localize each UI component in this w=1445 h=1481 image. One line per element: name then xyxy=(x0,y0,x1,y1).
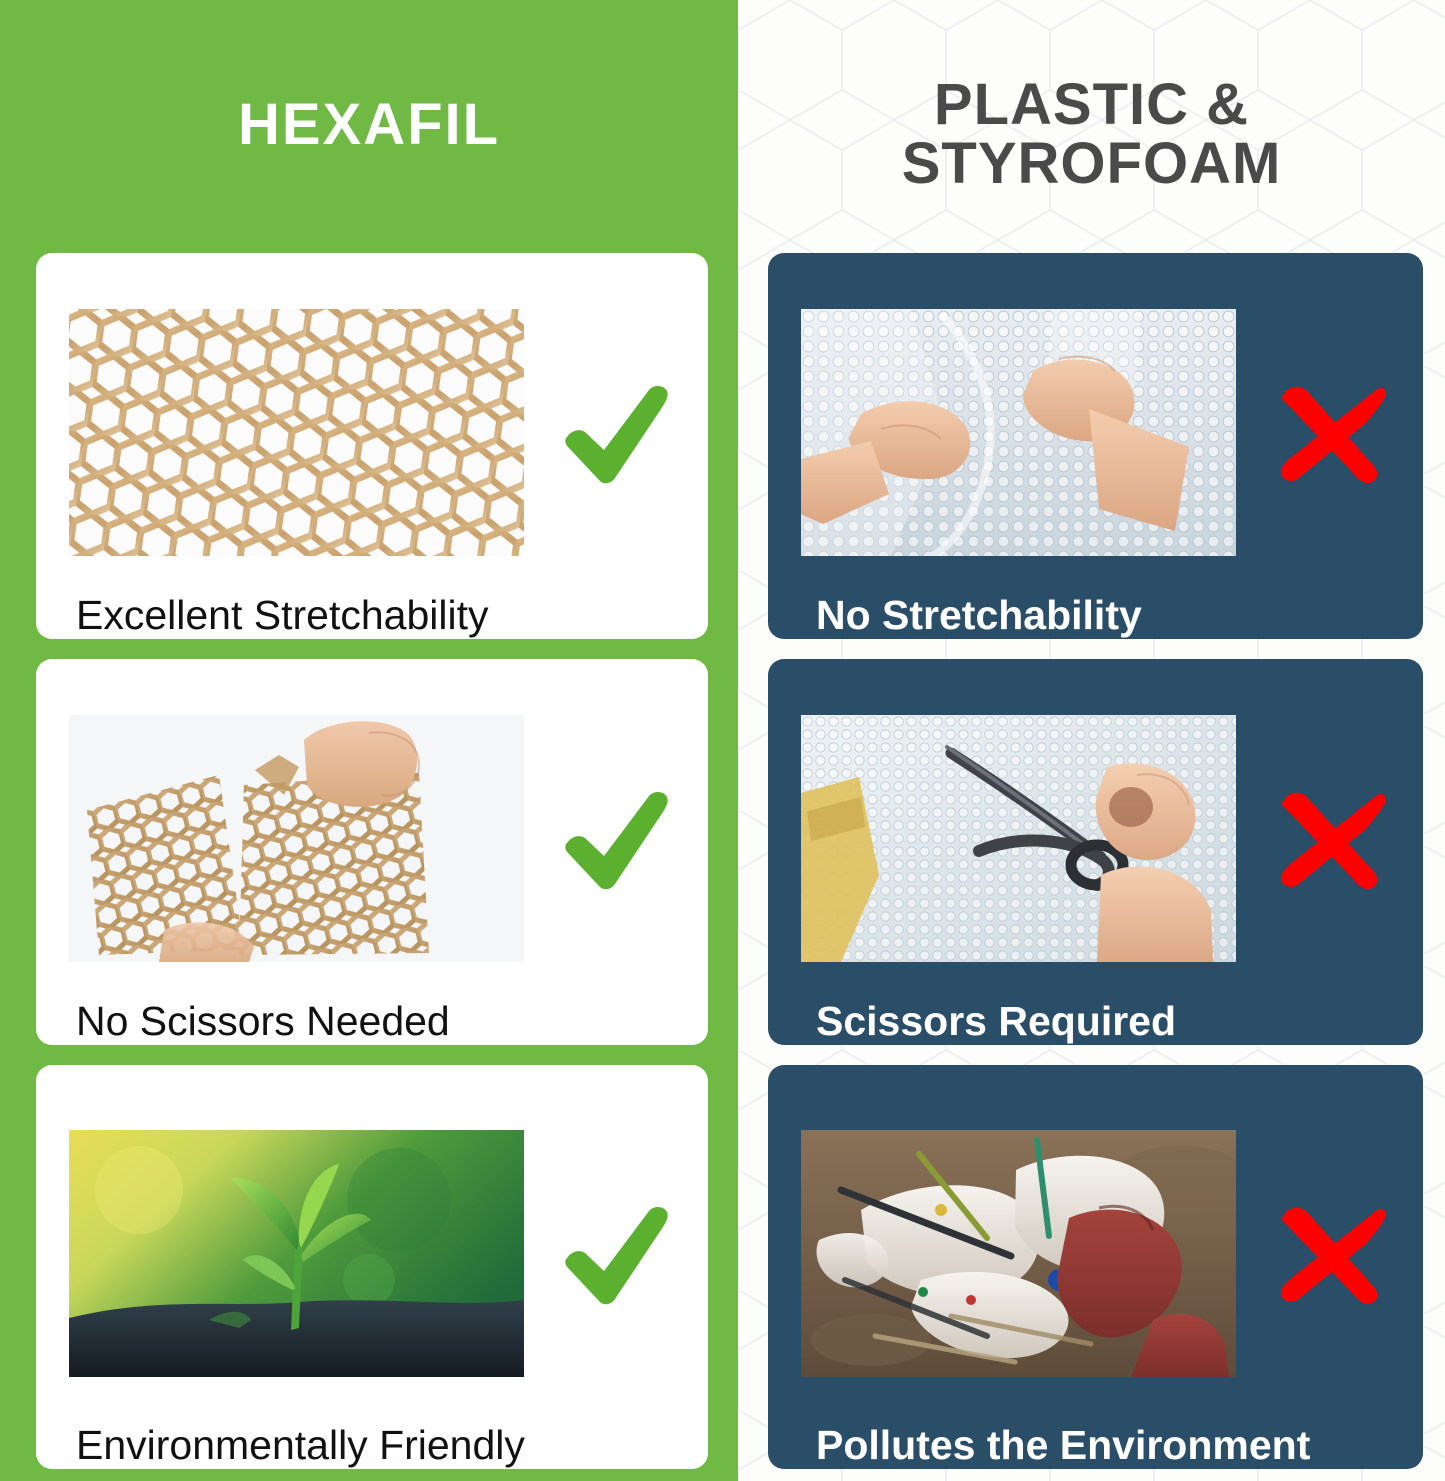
cross-mark-slot-2 xyxy=(1236,715,1423,962)
comparison-infographic: HEXAFIL xyxy=(0,0,1445,1481)
scissors-cutting-bubble-wrap-photo xyxy=(801,715,1236,962)
card-caption: No Stretchability xyxy=(768,587,1423,639)
cross-mark-slot-3 xyxy=(1236,1130,1423,1377)
check-mark-slot-1 xyxy=(524,309,708,556)
card-caption: Excellent Stretchability xyxy=(36,587,708,639)
card-caption: Pollutes the Environment xyxy=(768,1417,1423,1469)
card-caption: Scissors Required xyxy=(768,993,1423,1045)
right-header: PLASTIC & STYROFOAM xyxy=(738,0,1445,250)
green-seedling-in-soil-photo xyxy=(69,1130,524,1377)
honeycomb-kraft-paper-mesh-photo xyxy=(69,309,524,556)
cross-icon xyxy=(1270,784,1390,894)
check-icon xyxy=(557,1200,675,1308)
right-panel-title: PLASTIC & STYROFOAM xyxy=(902,57,1282,193)
hands-pulling-bubble-wrap-photo xyxy=(801,309,1236,556)
left-card-stack: Excellent Stretchability xyxy=(36,253,708,1469)
card-excellent-stretchability: Excellent Stretchability xyxy=(36,253,708,639)
check-mark-slot-3 xyxy=(524,1130,708,1377)
card-no-scissors-needed: No Scissors Needed xyxy=(36,659,708,1045)
cross-icon xyxy=(1270,1199,1390,1309)
check-icon xyxy=(557,379,675,487)
right-panel-title-line2: STYROFOAM xyxy=(902,134,1282,193)
card-caption: No Scissors Needed xyxy=(36,993,708,1045)
cross-icon xyxy=(1270,378,1390,488)
check-mark-slot-2 xyxy=(524,715,708,962)
cross-mark-slot-1 xyxy=(1236,309,1423,556)
card-pollutes-the-environment: Pollutes the Environment xyxy=(768,1065,1423,1469)
check-icon xyxy=(557,785,675,893)
card-environmentally-friendly: Environmentally Friendly xyxy=(36,1065,708,1469)
right-panel-title-line1: PLASTIC & xyxy=(902,75,1282,134)
plastic-waste-litter-pile-photo xyxy=(801,1130,1236,1377)
card-no-stretchability: No Stretchability xyxy=(768,253,1423,639)
hand-tearing-kraft-honeycomb-wrap-photo xyxy=(69,715,524,962)
right-card-stack: No Stretchability xyxy=(768,253,1423,1469)
left-panel-hexafil: HEXAFIL xyxy=(0,0,738,1481)
left-header: HEXAFIL xyxy=(0,0,738,250)
left-panel-title: HEXAFIL xyxy=(238,94,500,155)
card-caption: Environmentally Friendly xyxy=(36,1417,708,1469)
card-scissors-required: Scissors Required xyxy=(768,659,1423,1045)
right-panel-plastic-styrofoam: PLASTIC & STYROFOAM xyxy=(738,0,1445,1481)
